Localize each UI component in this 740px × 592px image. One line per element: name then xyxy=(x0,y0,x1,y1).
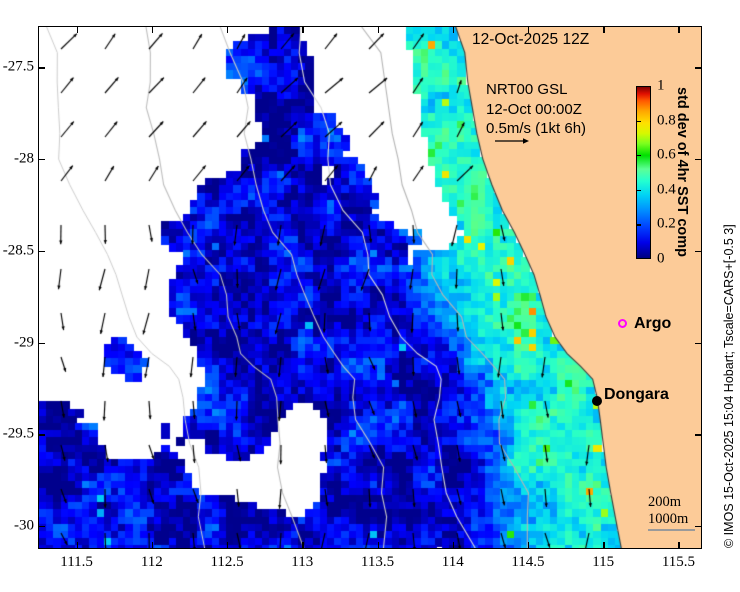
y-axis-tick-label-0: -27.5 xyxy=(3,59,34,76)
x-axis-tick-mark xyxy=(678,542,679,549)
x-axis-tick-label-8: 115.5 xyxy=(662,554,695,571)
colorbar-tick-label-4: 0.8 xyxy=(657,112,676,129)
x-axis-tick-mark xyxy=(152,542,153,549)
x-axis-tick-mark xyxy=(528,542,529,549)
x-axis-tick-mark xyxy=(302,26,303,33)
y-axis-tick-mark xyxy=(38,67,45,68)
y-axis-tick-mark xyxy=(38,526,45,527)
colorbar-tick-label-2: 0.4 xyxy=(657,181,676,198)
scale-arrow-icon xyxy=(495,136,529,146)
x-axis-tick-label-1: 112 xyxy=(141,554,163,571)
forecast-annotation: NRT00 GSL 12-Oct 00:00Z 0.5m/s (1kt 6h) xyxy=(486,80,586,139)
x-axis-tick-label-7: 115 xyxy=(592,554,614,571)
y-axis-tick-mark xyxy=(38,159,45,160)
argo-label: Argo xyxy=(634,315,671,333)
colorbar-tick-mark xyxy=(637,121,641,122)
y-axis-tick-label-2: -28.5 xyxy=(3,242,34,259)
x-axis-tick-label-2: 112.5 xyxy=(210,554,243,571)
annotation-line-2: 12-Oct 00:00Z xyxy=(486,100,586,120)
colorbar-tick-label-0: 0 xyxy=(657,251,665,268)
x-axis-tick-mark xyxy=(603,542,604,549)
bathymetry-1000m-label: 1000m xyxy=(648,511,688,528)
bathymetry-200m-label: 200m xyxy=(648,494,688,511)
credit-text: © IMOS 15-Oct-2025 15:04 Hobart; Tscale=… xyxy=(722,224,736,548)
colorbar-tick-label-3: 0.6 xyxy=(657,147,676,164)
x-axis-tick-label-4: 113.5 xyxy=(361,554,394,571)
colorbar-tick-mark xyxy=(637,155,641,156)
bathymetry-legend-rule xyxy=(648,529,695,531)
y-axis-tick-label-3: -29 xyxy=(14,334,34,351)
sst-map-figure: 12-Oct-2025 12Z NRT00 GSL 12-Oct 00:00Z … xyxy=(0,0,740,592)
x-axis-tick-mark xyxy=(453,542,454,549)
y-axis-tick-mark xyxy=(695,434,702,435)
y-axis-tick-mark xyxy=(695,159,702,160)
x-axis-tick-mark xyxy=(152,26,153,33)
x-axis-tick-mark xyxy=(77,26,78,33)
date-stamp: 12-Oct-2025 12Z xyxy=(472,31,589,49)
x-axis-tick-mark xyxy=(528,26,529,33)
colorbar-tick-mark xyxy=(637,224,641,225)
x-axis-tick-mark xyxy=(378,26,379,33)
annotation-line-1: NRT00 GSL xyxy=(486,80,586,100)
y-axis-tick-mark xyxy=(695,67,702,68)
y-axis-tick-mark xyxy=(695,251,702,252)
current-vector-layer xyxy=(39,27,701,548)
x-axis-tick-label-3: 113 xyxy=(291,554,313,571)
y-axis-tick-label-1: -28 xyxy=(14,151,34,168)
x-axis-tick-mark xyxy=(77,542,78,549)
y-axis-tick-mark xyxy=(695,526,702,527)
colorbar-title: std dev of 4hr SST comp xyxy=(674,87,690,259)
y-axis-tick-mark xyxy=(38,343,45,344)
colorbar-tick-mark xyxy=(637,190,641,191)
x-axis-tick-label-6: 114.5 xyxy=(511,554,544,571)
y-axis-tick-label-5: -30 xyxy=(14,517,34,534)
x-axis-tick-mark xyxy=(603,26,604,33)
y-axis-tick-mark xyxy=(695,343,702,344)
map-plot-area[interactable] xyxy=(38,26,702,549)
x-axis-tick-mark xyxy=(302,542,303,549)
x-axis-tick-label-0: 111.5 xyxy=(60,554,93,571)
y-axis-tick-mark xyxy=(38,251,45,252)
x-axis-tick-mark xyxy=(453,26,454,33)
x-axis-tick-label-5: 114 xyxy=(442,554,464,571)
colorbar-tick-label-1: 0.2 xyxy=(657,216,676,233)
x-axis-tick-mark xyxy=(227,26,228,33)
x-axis-tick-mark xyxy=(378,542,379,549)
dongara-label: Dongara xyxy=(604,386,669,404)
colorbar xyxy=(636,86,651,259)
dongara-town-marker[interactable] xyxy=(592,396,602,406)
bathymetry-legend: 200m 1000m xyxy=(648,494,688,528)
y-axis-tick-mark xyxy=(38,434,45,435)
colorbar-tick-label-5: 1 xyxy=(657,78,665,95)
x-axis-tick-mark xyxy=(678,26,679,33)
x-axis-tick-mark xyxy=(227,542,228,549)
y-axis-tick-label-4: -29.5 xyxy=(3,426,34,443)
argo-float-marker[interactable] xyxy=(618,319,627,328)
